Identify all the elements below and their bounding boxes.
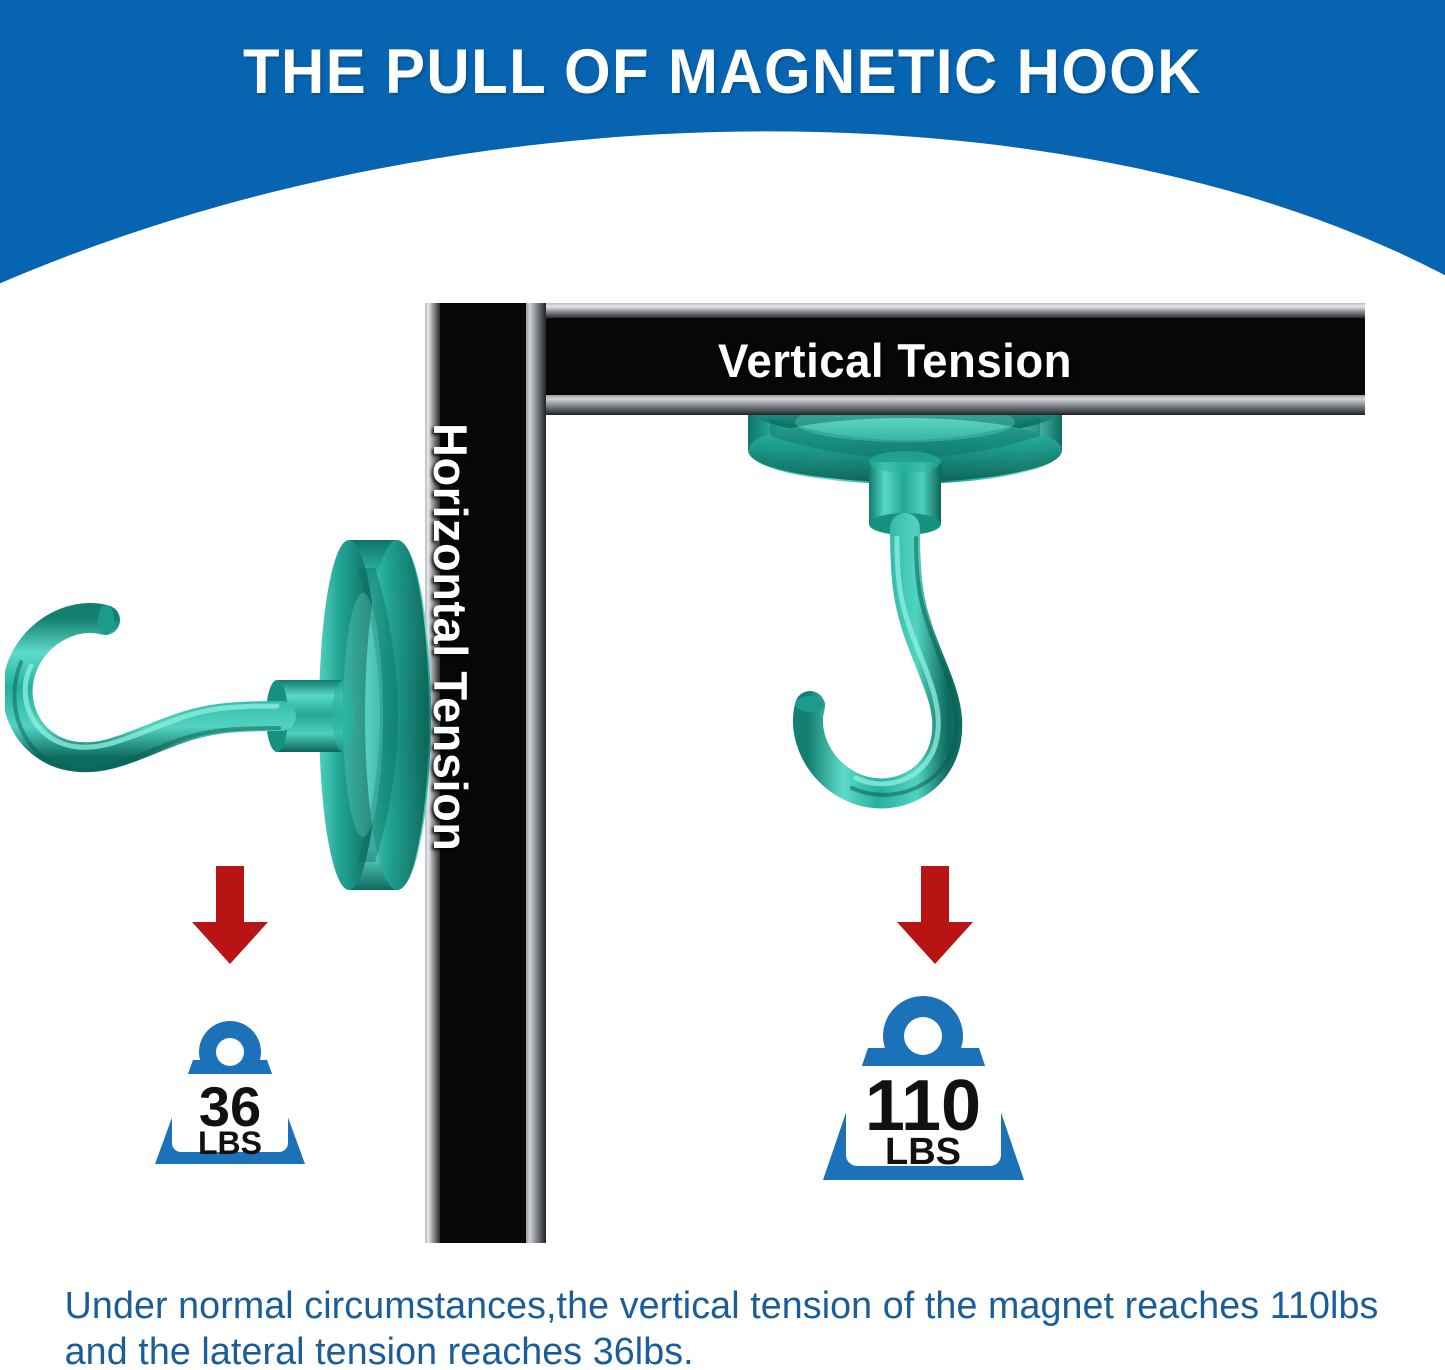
bar-metal-edge-top [425,303,1365,318]
hook-wire [18,618,281,757]
infographic-poster: THE PULL OF MAGNETIC HOOK Vertical Tensi… [0,0,1445,1370]
hook-tip [795,696,825,712]
vertical-tension-bar: Vertical Tension [425,303,1365,401]
caption-text: Under normal circumstances,the vertical … [65,1283,1382,1370]
weight-unit: LBS [198,1125,262,1161]
horizontal-tension-label-wrap: Horizontal Tension [425,303,532,1243]
weight-unit: LBS [885,1131,961,1173]
bar-metal-edge-bottom [425,395,1365,415]
vertical-tension-arrow [895,866,975,964]
page-title: THE PULL OF MAGNETIC HOOK [36,36,1409,108]
horizontal-magnetic-hook [5,528,435,928]
vertical-weight-badge: 110 LBS [806,988,1041,1193]
horizontal-weight-badge: 36 LBS [141,1012,319,1174]
hook-wire [808,528,947,793]
vertical-tension-label: Vertical Tension [439,319,1351,401]
hook-tip [98,605,114,635]
vertical-magnetic-hook [740,388,1070,828]
bar-metal-edge-right [526,303,546,1243]
horizontal-tension-bar: Horizontal Tension [425,303,532,1243]
